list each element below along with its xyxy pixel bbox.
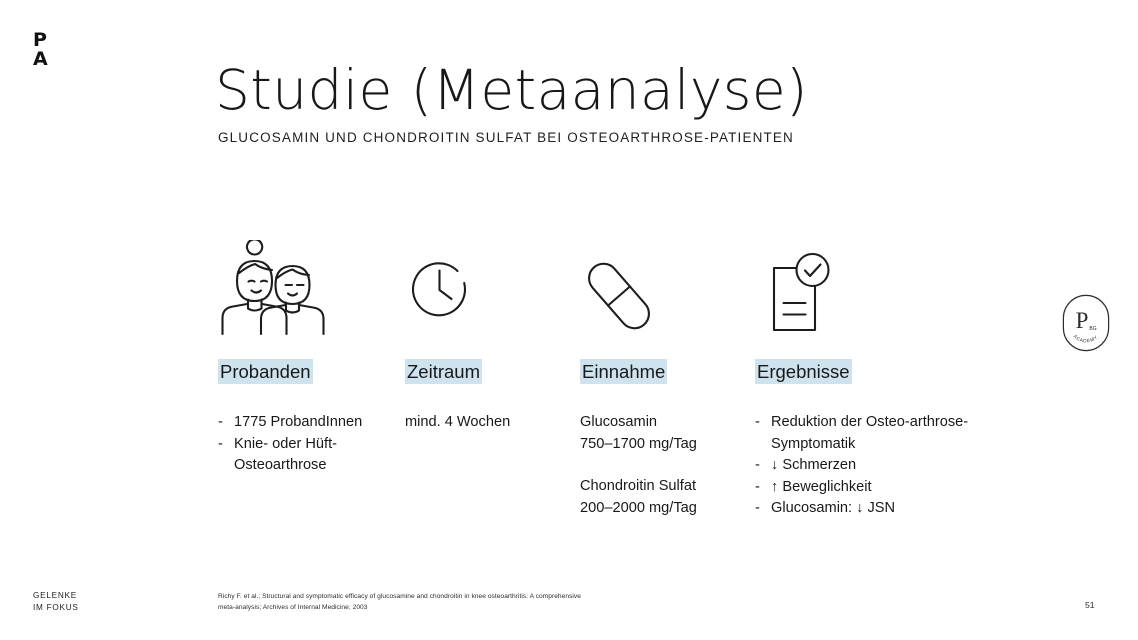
bullet-dash: - — [755, 477, 760, 499]
clock-icon — [405, 236, 570, 336]
footer-brand-line-2: IM FOKUS — [33, 602, 79, 614]
list-item-text: ↓ Schmerzen — [771, 457, 856, 473]
page-subtitle: GLUCOSAMIN UND CHONDROITIN SULFAT BEI OS… — [218, 129, 794, 147]
column-einnahme: Einnahme Glucosamin 750–1700 mg/Tag Chon… — [580, 236, 745, 519]
bullet-dash: - — [755, 455, 760, 477]
list-item: -Glucosamin: ↓ JSN — [755, 498, 980, 520]
column-body-probanden: -1775 ProbandInnen -Knie- oder Hüft-Oste… — [218, 412, 398, 477]
list-item: -↑ Beweglichkeit — [755, 477, 980, 499]
footer-brand: GELENKE IM FOKUS — [33, 590, 79, 613]
column-body-ergebnisse: -Reduktion der Osteo-arthrose-Symptomati… — [755, 412, 980, 520]
page-number: 51 — [1085, 600, 1095, 611]
column-ergebnisse: Ergebnisse -Reduktion der Osteo-arthrose… — [755, 236, 980, 520]
brand-mark-logo: P A — [33, 31, 48, 69]
citation-footnote: Richy F. et al.; Structural and symptoma… — [218, 592, 688, 613]
column-body-zeitraum: mind. 4 Wochen — [405, 412, 570, 434]
brand-mark-line-2: A — [33, 50, 48, 69]
column-label-einnahme: Einnahme — [580, 359, 667, 384]
dosage-paragraph: Glucosamin 750–1700 mg/Tag — [580, 412, 745, 455]
bullet-dash: - — [755, 498, 760, 520]
column-body-einnahme: Glucosamin 750–1700 mg/Tag Chondroitin S… — [580, 412, 745, 519]
column-label-zeitraum: Zeitraum — [405, 359, 482, 384]
dosage-substance: Chondroitin Sulfat — [580, 476, 745, 498]
badge-small-text: BG — [1089, 326, 1096, 332]
list-item-text: Reduktion der Osteo-arthrose-Symptomatik — [771, 414, 968, 452]
dosage-paragraph: Chondroitin Sulfat 200–2000 mg/Tag — [580, 476, 745, 519]
badge-arc-text: ACADEMY — [1073, 334, 1099, 344]
list-item: -↓ Schmerzen — [755, 455, 980, 477]
list-item: -1775 ProbandInnen — [218, 412, 398, 434]
academy-badge: P BG ACADEMY — [1062, 294, 1110, 357]
bullet-list-ergebnisse: -Reduktion der Osteo-arthrose-Symptomati… — [755, 412, 980, 520]
zeitraum-line: mind. 4 Wochen — [405, 412, 570, 434]
page-title: Studie (Metaanalyse) — [215, 58, 808, 122]
bullet-dash: - — [218, 412, 223, 434]
bullet-dash: - — [755, 412, 760, 434]
list-item-text: 1775 ProbandInnen — [234, 414, 362, 430]
bullet-list-probanden: -1775 ProbandInnen -Knie- oder Hüft-Oste… — [218, 412, 398, 477]
column-zeitraum: Zeitraum mind. 4 Wochen — [405, 236, 570, 434]
dosage-amount: 200–2000 mg/Tag — [580, 498, 745, 520]
pill-capsule-icon — [580, 236, 745, 336]
column-probanden: Probanden -1775 ProbandInnen -Knie- oder… — [218, 236, 398, 477]
document-check-icon — [755, 236, 980, 336]
footer-brand-line-1: GELENKE — [33, 590, 79, 602]
column-label-ergebnisse: Ergebnisse — [755, 359, 852, 384]
slide-canvas: P A Studie (Metaanalyse) GLUCOSAMIN UND … — [0, 0, 1138, 640]
bullet-dash: - — [218, 434, 223, 456]
two-people-icon — [218, 236, 398, 336]
list-item: -Reduktion der Osteo-arthrose-Symptomati… — [755, 412, 980, 455]
list-item: -Knie- oder Hüft-Osteoarthrose — [218, 434, 398, 477]
citation-line-2: meta-analysis; Archives of Internal Medi… — [218, 603, 688, 614]
dosage-amount: 750–1700 mg/Tag — [580, 434, 745, 456]
dosage-substance: Glucosamin — [580, 412, 745, 434]
list-item-text: Knie- oder Hüft-Osteoarthrose — [234, 436, 337, 474]
list-item-text: ↑ Beweglichkeit — [771, 479, 872, 495]
list-item-text: Glucosamin: ↓ JSN — [771, 500, 895, 516]
citation-line-1: Richy F. et al.; Structural and symptoma… — [218, 592, 688, 603]
badge-letter: P — [1076, 308, 1089, 333]
column-label-probanden: Probanden — [218, 359, 313, 384]
